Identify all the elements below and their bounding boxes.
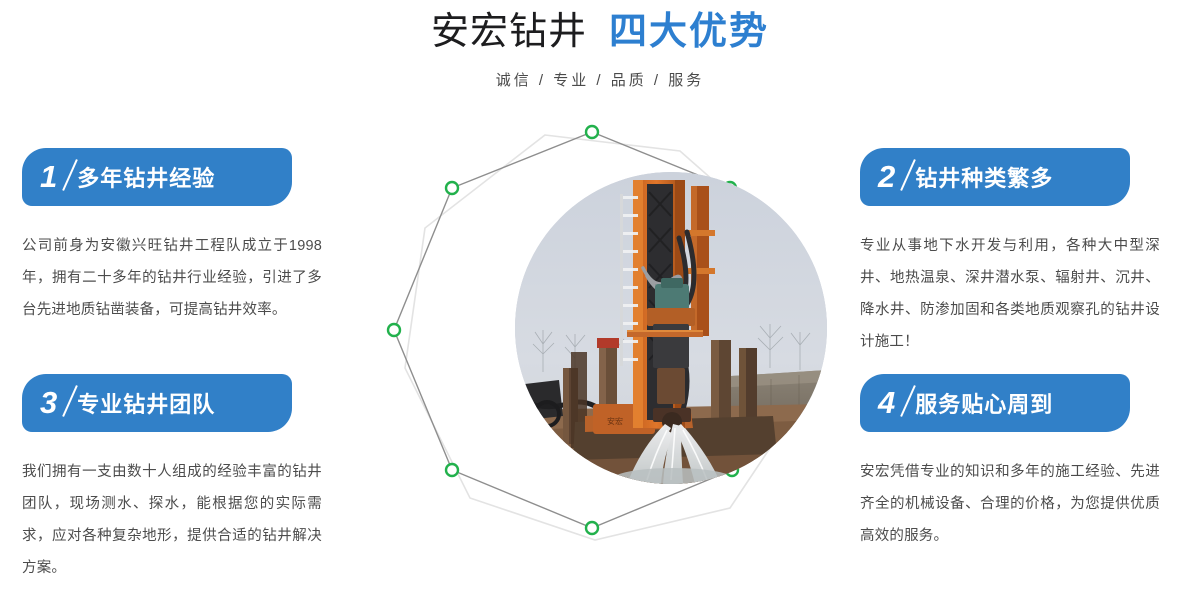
number-2-icon: 2 — [878, 161, 911, 192]
node-icon-top — [586, 126, 598, 138]
feature-title-3: 专业钻井团队 — [77, 387, 215, 419]
title-company: 安宏钻井 — [431, 11, 587, 53]
feature-badge-2: 2 钻井种类繁多 — [860, 148, 1130, 206]
number-1-icon: 1 — [40, 161, 73, 192]
feature-title-1: 多年钻井经验 — [77, 161, 215, 193]
node-icon-bottom — [586, 522, 598, 534]
number-4-icon: 4 — [878, 387, 911, 418]
node-icon-top-left — [446, 182, 458, 194]
rig-illustration: 安宏 — [515, 172, 827, 484]
svg-text:安宏: 安宏 — [607, 416, 623, 426]
feature-title-4: 服务贴心周到 — [915, 387, 1053, 419]
header: 安宏钻井四大优势 诚信 / 专业 / 品质 / 服务 — [0, 8, 1200, 92]
advantages-banner: 安宏钻井四大优势 诚信 / 专业 / 品质 / 服务 1 多年钻井经验 公司前身… — [0, 0, 1200, 600]
feature-body-4: 安宏凭借专业的知识和多年的施工经验、先进齐全的机械设备、合理的价格，为您提供优质… — [860, 456, 1160, 552]
feature-badge-3: 3 专业钻井团队 — [22, 374, 292, 432]
page-title: 安宏钻井四大优势 — [0, 8, 1200, 56]
number-3-icon: 3 — [40, 387, 73, 418]
feature-card-2: 2 钻井种类繁多 专业从事地下水开发与利用，各种大中型深井、地热温泉、深井潜水泵… — [860, 148, 1160, 358]
feature-body-3: 我们拥有一支由数十人组成的经验丰富的钻井团队，现场测水、探水，能根据您的实际需求… — [22, 456, 322, 584]
center-graphic: 安宏 — [370, 108, 830, 578]
feature-card-1: 1 多年钻井经验 公司前身为安徽兴旺钻井工程队成立于1998年，拥有二十多年的钻… — [22, 148, 322, 326]
feature-card-3: 3 专业钻井团队 我们拥有一支由数十人组成的经验丰富的钻井团队，现场测水、探水，… — [22, 374, 322, 584]
feature-badge-4: 4 服务贴心周到 — [860, 374, 1130, 432]
title-highlight: 四大优势 — [609, 11, 769, 53]
feature-body-1: 公司前身为安徽兴旺钻井工程队成立于1998年，拥有二十多年的钻井行业经验，引进了… — [22, 230, 322, 326]
feature-card-4: 4 服务贴心周到 安宏凭借专业的知识和多年的施工经验、先进齐全的机械设备、合理的… — [860, 374, 1160, 552]
header-subtitle: 诚信 / 专业 / 品质 / 服务 — [0, 70, 1200, 92]
node-icon-bottom-left — [446, 464, 458, 476]
feature-title-2: 钻井种类繁多 — [915, 161, 1053, 193]
drilling-rig-photo: 安宏 — [515, 172, 827, 484]
feature-badge-1: 1 多年钻井经验 — [22, 148, 292, 206]
node-icon-left — [388, 324, 400, 336]
feature-body-2: 专业从事地下水开发与利用，各种大中型深井、地热温泉、深井潜水泵、辐射井、沉井、降… — [860, 230, 1160, 358]
